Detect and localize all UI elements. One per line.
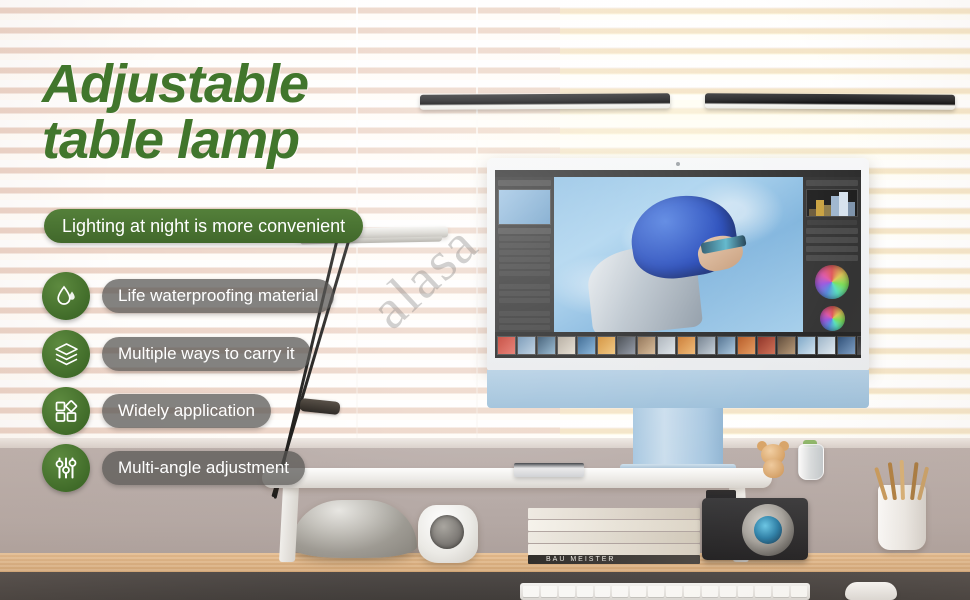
feature-item-angle[interactable]: Multi-angle adjustment: [42, 444, 305, 492]
app-photo-canvas[interactable]: [554, 177, 803, 332]
sliders-icon: [42, 444, 90, 492]
app-filmstrip[interactable]: [495, 332, 861, 358]
promo-banner: BAU MEISTER: [0, 0, 970, 600]
filmstrip-thumbnail[interactable]: [517, 336, 536, 355]
app-left-panel[interactable]: [495, 177, 554, 332]
feature-label-bar: Widely application: [102, 394, 271, 428]
monitor-chin: [487, 370, 869, 408]
basic-panel-header: [806, 228, 858, 234]
filmstrip-thumbnail[interactable]: [657, 336, 676, 355]
feature-label: Multi-angle adjustment: [118, 458, 289, 478]
app-right-panel[interactable]: [803, 177, 861, 332]
shapes-grid-icon: [42, 387, 90, 435]
speaker-cone: [430, 515, 464, 549]
monitor-webcam: [676, 162, 680, 166]
presets-panel-header: [498, 228, 551, 234]
color-wheel-shadows[interactable]: [820, 306, 845, 331]
feature-label: Multiple ways to carry it: [118, 344, 295, 364]
filmstrip-thumbnail[interactable]: [557, 336, 576, 355]
mouse[interactable]: [845, 582, 897, 600]
filmstrip-thumbnail[interactable]: [737, 336, 756, 355]
histogram-graph: [806, 189, 858, 217]
filmstrip-thumbnail[interactable]: [537, 336, 556, 355]
feature-label-bar: Multi-angle adjustment: [102, 451, 305, 485]
bear-body: [763, 459, 784, 478]
feature-label: Life waterproofing material: [118, 286, 318, 306]
filmstrip-thumbnail[interactable]: [637, 336, 656, 355]
filmstrip-thumbnail[interactable]: [817, 336, 836, 355]
filmstrip-thumbnail[interactable]: [697, 336, 716, 355]
headline-line-2: table lamp: [42, 112, 308, 168]
keyboard[interactable]: [520, 583, 810, 600]
filmstrip-thumbnail[interactable]: [597, 336, 616, 355]
feature-item-waterproof[interactable]: Life waterproofing material: [42, 272, 334, 320]
photo-editing-app[interactable]: [495, 170, 861, 358]
edited-photo: [554, 177, 803, 332]
filmstrip-thumbnail[interactable]: [677, 336, 696, 355]
color-wheel-midtones[interactable]: [815, 265, 849, 299]
feature-label-bar: Multiple ways to carry it: [102, 337, 311, 371]
monitor-stand-neck: [633, 406, 723, 468]
monitor-screen[interactable]: [495, 170, 861, 358]
blind-cord-mid: [476, 0, 478, 512]
book-stack: BAU MEISTER: [528, 508, 700, 563]
glass-jar: [798, 444, 824, 480]
camera-lens-glass: [754, 516, 782, 544]
feature-label-bar: Life waterproofing material: [102, 279, 334, 313]
led-bar-lamp: [420, 94, 955, 109]
led-bar-right-wing: [705, 93, 955, 110]
hsl-panel-header: [806, 246, 858, 252]
filmstrip-thumbnail[interactable]: [857, 336, 861, 355]
layers-icon: [42, 330, 90, 378]
feature-label: Widely application: [118, 401, 255, 421]
smartphone: [514, 463, 584, 477]
book-spine-label: BAU MEISTER: [546, 555, 615, 564]
histogram-panel-header: [806, 180, 858, 186]
tone-curve-panel-header: [806, 237, 858, 243]
filmstrip-thumbnail[interactable]: [617, 336, 636, 355]
tagline-badge: Lighting at night is more convenient: [44, 209, 363, 243]
headline-line-1: Adjustable: [42, 56, 308, 112]
blind-cord-left: [356, 0, 358, 512]
tagline-text: Lighting at night is more convenient: [62, 216, 345, 237]
filmstrip-thumbnail[interactable]: [837, 336, 856, 355]
teddy-bear-figurine: [754, 442, 792, 478]
page-title: Adjustable table lamp: [42, 56, 308, 168]
app-titlebar: [495, 170, 861, 177]
filmstrip-thumbnail[interactable]: [777, 336, 796, 355]
desk-mat: [0, 572, 970, 600]
filmstrip-thumbnail[interactable]: [497, 336, 516, 355]
navigator-panel-header: [498, 180, 551, 186]
color-grading-panel-header: [806, 255, 858, 261]
navigator-thumbnail: [498, 189, 551, 225]
filmstrip-thumbnail[interactable]: [797, 336, 816, 355]
led-bar-left-wing: [420, 93, 670, 110]
feature-item-application[interactable]: Widely application: [42, 387, 271, 435]
filmstrip-thumbnail[interactable]: [717, 336, 736, 355]
filmstrip-thumbnail[interactable]: [577, 336, 596, 355]
filmstrip-thumbnail[interactable]: [757, 336, 776, 355]
water-drop-icon: [42, 272, 90, 320]
feature-item-carry[interactable]: Multiple ways to carry it: [42, 330, 311, 378]
